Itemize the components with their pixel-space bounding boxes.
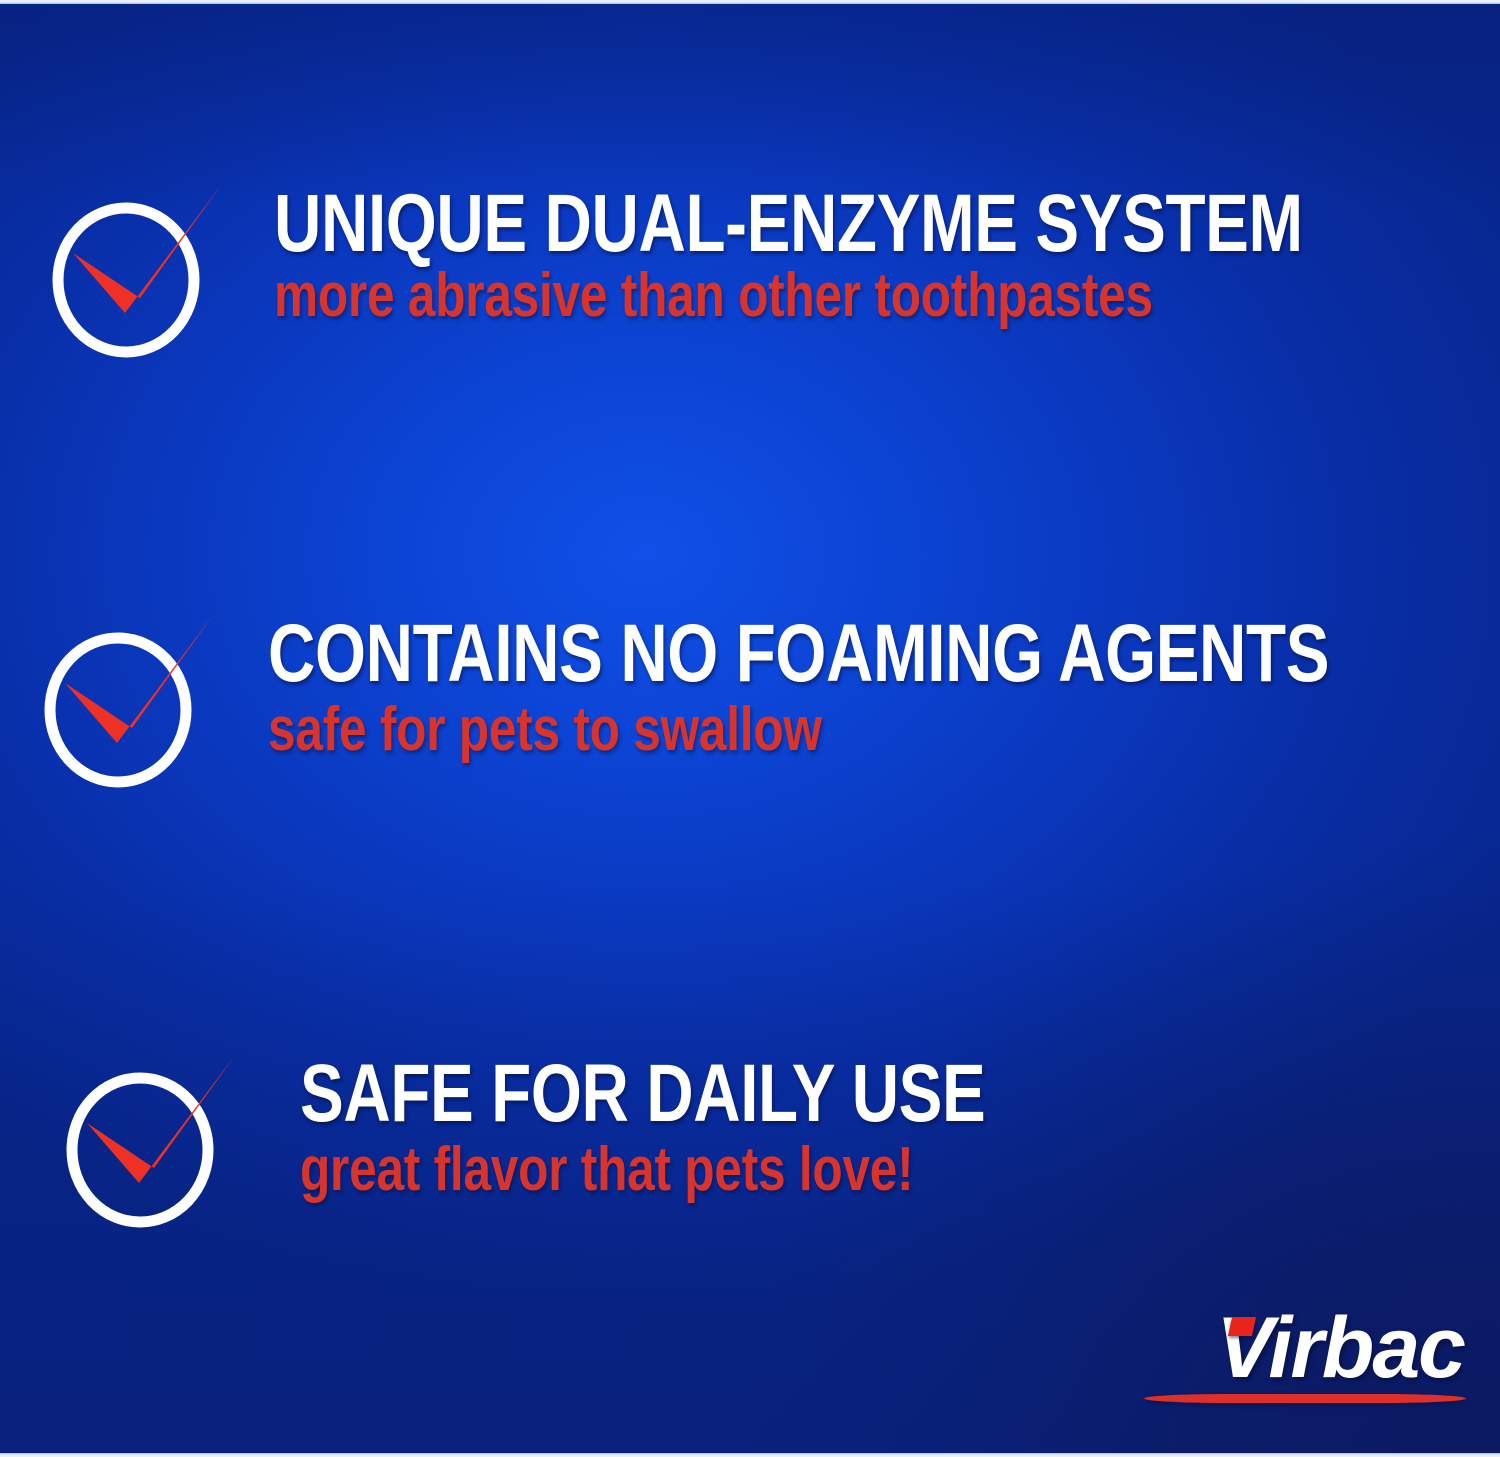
feature-item-safe-for-daily-use: SAFE FOR DAILY USE great flavor that pet… bbox=[62, 1052, 1157, 1242]
top-edge-strip bbox=[0, 0, 1500, 4]
brand-underline-rule bbox=[1144, 1394, 1466, 1403]
feature-subline: safe for pets to swallow bbox=[268, 699, 1329, 761]
feature-item-contains-no-foaming-agents: CONTAINS NO FOAMING AGENTS safe for pets… bbox=[40, 612, 1500, 802]
brand-logo: Virbac bbox=[1138, 1303, 1468, 1415]
feature-text-block: UNIQUE DUAL-ENZYME SYSTEM more abrasive … bbox=[274, 182, 1500, 327]
check-circle-icon bbox=[48, 182, 258, 372]
feature-headline: UNIQUE DUAL-ENZYME SYSTEM bbox=[274, 186, 1303, 261]
feature-text-block: CONTAINS NO FOAMING AGENTS safe for pets… bbox=[268, 612, 1500, 761]
feature-headline: CONTAINS NO FOAMING AGENTS bbox=[268, 616, 1329, 691]
feature-headline: SAFE FOR DAILY USE bbox=[300, 1056, 985, 1131]
feature-subline: more abrasive than other toothpastes bbox=[274, 265, 1303, 327]
marketing-poster: UNIQUE DUAL-ENZYME SYSTEM more abrasive … bbox=[0, 0, 1500, 1457]
brand-accent-dot-icon bbox=[1228, 1317, 1256, 1336]
check-circle-icon bbox=[62, 1052, 272, 1242]
feature-subline: great flavor that pets love! bbox=[300, 1139, 985, 1201]
bottom-edge-strip bbox=[0, 1453, 1500, 1457]
check-circle-icon bbox=[40, 612, 250, 802]
feature-text-block: SAFE FOR DAILY USE great flavor that pet… bbox=[300, 1052, 1157, 1201]
feature-item-unique-dual-enzyme-system: UNIQUE DUAL-ENZYME SYSTEM more abrasive … bbox=[48, 182, 1500, 372]
